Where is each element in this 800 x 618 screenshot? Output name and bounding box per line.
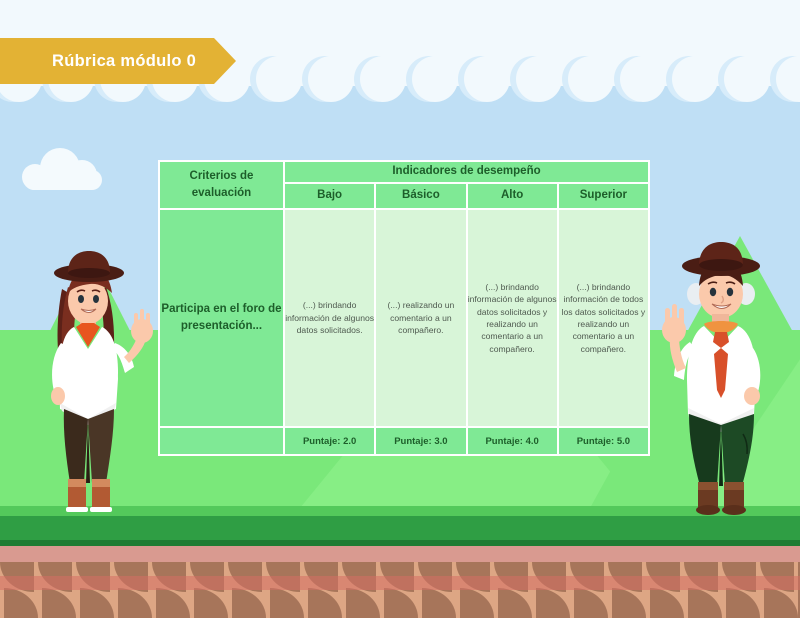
level-header-superior: Superior bbox=[559, 184, 648, 208]
descriptor-cell-bajo: (...) brindando información de algunos d… bbox=[285, 210, 374, 426]
rubric-table: Criterios de evaluación Indicadores de d… bbox=[158, 160, 650, 456]
score-row-spacer bbox=[160, 428, 283, 454]
cloud-icon bbox=[22, 148, 104, 190]
score-cell-alto: Puntaje: 4.0 bbox=[468, 428, 557, 454]
table-score-row: Puntaje: 2.0 Puntaje: 3.0 Puntaje: 4.0 P… bbox=[160, 428, 648, 454]
level-label-superior: Superior bbox=[580, 189, 627, 201]
table-row: Participa en el foro de presentación... … bbox=[160, 210, 648, 426]
title-banner: Rúbrica módulo 0 bbox=[0, 38, 236, 84]
descriptor-text-superior: (...) brindando información de todos los… bbox=[562, 282, 646, 354]
indicators-header-label: Indicadores de desempeño bbox=[392, 165, 540, 177]
score-cell-bajo: Puntaje: 2.0 bbox=[285, 428, 374, 454]
man-waving-character bbox=[648, 238, 774, 520]
score-cell-superior: Puntaje: 5.0 bbox=[559, 428, 648, 454]
criteria-header-cell: Criterios de evaluación bbox=[160, 162, 283, 208]
indicators-header-cell: Indicadores de desempeño bbox=[285, 162, 648, 182]
criteria-header-label: Criterios de evaluación bbox=[190, 170, 254, 199]
slide-canvas: Rúbrica módulo 0 Criterios de evaluación… bbox=[0, 0, 800, 618]
level-header-bajo: Bajo bbox=[285, 184, 374, 208]
criterion-label: Participa en el foro de presentación... bbox=[161, 303, 281, 332]
descriptor-cell-basico: (...) realizando un comentario a un comp… bbox=[376, 210, 465, 426]
page-title: Rúbrica módulo 0 bbox=[52, 52, 196, 71]
score-label-bajo: Puntaje: 2.0 bbox=[303, 436, 356, 447]
descriptor-text-bajo: (...) brindando información de algunos d… bbox=[285, 300, 374, 335]
descriptor-cell-alto: (...) brindando información de algunos d… bbox=[468, 210, 557, 426]
criterion-cell: Participa en el foro de presentación... bbox=[160, 210, 283, 426]
table-header-row-1: Criterios de evaluación Indicadores de d… bbox=[160, 162, 648, 182]
woman-waving-character bbox=[34, 243, 156, 519]
score-label-alto: Puntaje: 4.0 bbox=[485, 436, 538, 447]
descriptor-cell-superior: (...) brindando información de todos los… bbox=[559, 210, 648, 426]
level-header-basico: Básico bbox=[376, 184, 465, 208]
title-banner-body: Rúbrica módulo 0 bbox=[0, 38, 214, 84]
soil-stripe bbox=[0, 576, 800, 590]
level-label-basico: Básico bbox=[402, 189, 440, 201]
soil-top-layer bbox=[0, 546, 800, 562]
title-banner-arrow-tip bbox=[214, 38, 236, 84]
level-header-alto: Alto bbox=[468, 184, 557, 208]
score-cell-basico: Puntaje: 3.0 bbox=[376, 428, 465, 454]
level-label-alto: Alto bbox=[501, 189, 523, 201]
score-label-superior: Puntaje: 5.0 bbox=[577, 436, 630, 447]
soil-layer bbox=[0, 562, 800, 618]
level-label-bajo: Bajo bbox=[317, 189, 342, 201]
score-label-basico: Puntaje: 3.0 bbox=[394, 436, 447, 447]
descriptor-text-alto: (...) brindando información de algunos d… bbox=[468, 282, 557, 354]
descriptor-text-basico: (...) realizando un comentario a un comp… bbox=[387, 300, 454, 335]
